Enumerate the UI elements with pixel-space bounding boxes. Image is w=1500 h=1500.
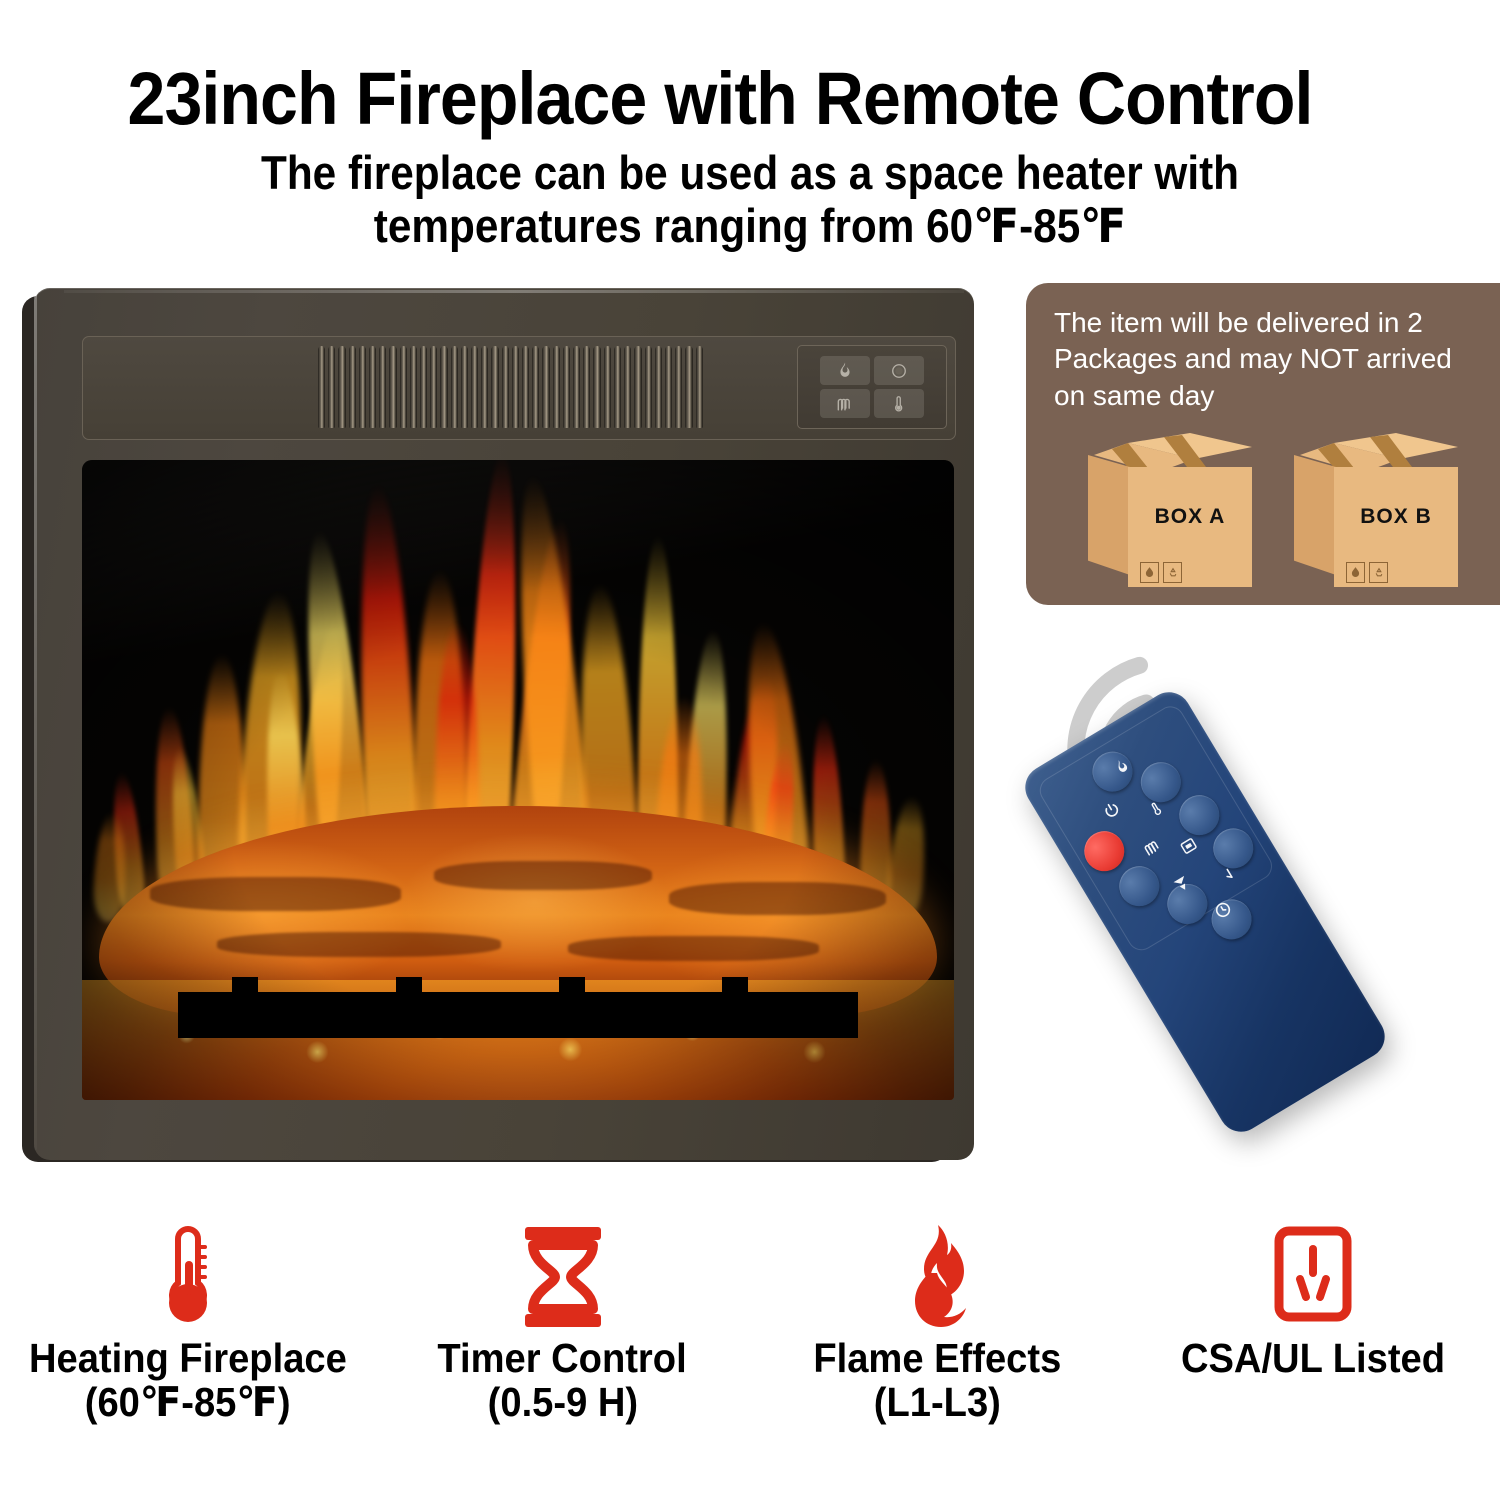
control-flame-icon[interactable] <box>820 356 870 385</box>
power-outlet-icon <box>1267 1218 1359 1336</box>
fragile-stamp-icon <box>1346 562 1365 583</box>
vent-slat <box>481 346 488 428</box>
vent-slat <box>604 346 611 428</box>
page-title: 23inch Fireplace with Remote Control <box>58 62 1383 136</box>
vent-slat <box>359 346 366 428</box>
vent-slat <box>400 346 407 428</box>
recycle-stamp-icon <box>1369 562 1388 583</box>
control-power-icon[interactable] <box>874 356 924 385</box>
frame-top-highlight <box>64 290 964 293</box>
vent-slat <box>338 346 345 428</box>
vent-slat <box>685 346 692 428</box>
vent-slat <box>471 346 478 428</box>
vent-slat <box>614 346 621 428</box>
vent-slat <box>665 346 672 428</box>
vent-slat <box>430 346 437 428</box>
feature-row: Heating Fireplace (60℉-85℉) Timer Contro… <box>0 1218 1500 1500</box>
vent-slat <box>634 346 641 428</box>
box-b-side-face <box>1294 455 1336 575</box>
vent-slat <box>410 346 417 428</box>
package-box-b: BOX B <box>1294 433 1464 593</box>
subtitle-line-2: temperatures ranging from 60℉-85℉ <box>75 199 1425 252</box>
recycle-stamp-icon <box>1163 562 1182 583</box>
vent-slat <box>563 346 570 428</box>
vent-slat <box>573 346 580 428</box>
vent-slat <box>369 346 376 428</box>
feature-flame-effects: Flame Effects (L1-L3) <box>750 1218 1125 1500</box>
vent-slat <box>542 346 549 428</box>
vent-slat <box>624 346 631 428</box>
feature-timer-control: Timer Control (0.5-9 H) <box>375 1218 750 1500</box>
vent-slat <box>593 346 600 428</box>
remote-control-body[interactable] <box>1017 684 1393 1140</box>
vent-slat <box>522 346 529 428</box>
feature-label-line1: Heating Fireplace <box>29 1336 347 1380</box>
page-subtitle: The fireplace can be used as a space hea… <box>75 146 1425 252</box>
box-a-side-face <box>1088 455 1130 575</box>
frame-left-highlight <box>34 290 37 1150</box>
vent-slat <box>440 346 447 428</box>
vent-slat <box>389 346 396 428</box>
delivery-notice-text: The item will be delivered in 2 Packages… <box>1054 305 1484 414</box>
feature-label-line1: Flame Effects <box>814 1336 1062 1380</box>
box-b-label: BOX B <box>1334 505 1458 529</box>
flame-icon <box>893 1218 983 1336</box>
vent-slat <box>328 346 335 428</box>
feature-label-line2: (60℉-85℉) <box>85 1380 291 1426</box>
fireplace-frame <box>34 288 974 1160</box>
vent-slat <box>379 346 386 428</box>
subtitle-line-1: The fireplace can be used as a space hea… <box>75 146 1425 199</box>
flame-display-window <box>82 460 954 1100</box>
feature-label-line2: (L1-L3) <box>874 1380 1001 1426</box>
vent-grille <box>318 346 703 428</box>
fireplace-control-panel[interactable] <box>797 345 947 429</box>
vent-slat <box>696 346 703 428</box>
hourglass-icon <box>517 1218 609 1336</box>
vent-slat <box>532 346 539 428</box>
remote-control-image <box>1040 640 1500 1110</box>
box-a-stamps <box>1140 562 1182 583</box>
vent-slat <box>318 346 325 428</box>
vent-slat <box>675 346 682 428</box>
feature-heating-fireplace: Heating Fireplace (60℉-85℉) <box>0 1218 375 1500</box>
vent-slat <box>645 346 652 428</box>
vent-slat <box>502 346 509 428</box>
thermometer-icon <box>155 1218 221 1336</box>
feature-label-line1: CSA/UL Listed <box>1180 1336 1444 1380</box>
delivery-notice-panel: The item will be delivered in 2 Packages… <box>1026 283 1500 605</box>
vent-slat <box>461 346 468 428</box>
feature-label-line2: (0.5-9 H) <box>487 1380 637 1426</box>
header: 23inch Fireplace with Remote Control The… <box>0 0 1500 250</box>
vent-slat <box>655 346 662 428</box>
control-thermometer-icon[interactable] <box>874 389 924 418</box>
vent-slat <box>512 346 519 428</box>
control-heat-waves-icon[interactable] <box>820 389 870 418</box>
feature-csa-ul-listed: CSA/UL Listed <box>1125 1218 1500 1500</box>
box-a-label: BOX A <box>1128 505 1252 529</box>
vent-slat <box>583 346 590 428</box>
vent-slat <box>420 346 427 428</box>
vent-slat <box>553 346 560 428</box>
fragile-stamp-icon <box>1140 562 1159 583</box>
fireplace-product-image <box>22 288 974 1168</box>
glass-reflection <box>82 460 954 1100</box>
vent-slat <box>349 346 356 428</box>
vent-slat <box>451 346 458 428</box>
fireplace-top-panel <box>82 336 956 440</box>
package-box-a: BOX A <box>1088 433 1258 593</box>
vent-slat <box>491 346 498 428</box>
box-b-stamps <box>1346 562 1388 583</box>
feature-label-line1: Timer Control <box>438 1336 687 1380</box>
